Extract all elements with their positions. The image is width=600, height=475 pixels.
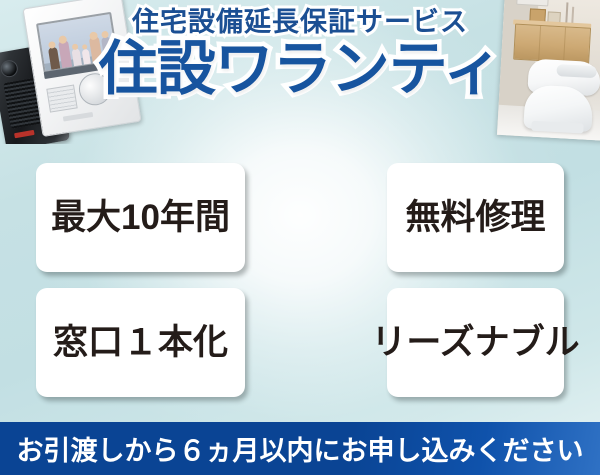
feature-label: リーズナブル — [371, 325, 579, 360]
feature-row-2: 窓口１本化 リーズナブル — [36, 288, 564, 397]
feature-box-grid: 最大10年間 無料修理 窓口１本化 リーズナブル — [36, 163, 564, 397]
promo-banner: 住宅設備延長保証サービス 住設ワランティ 最大10年間 無料修理 窓口１本化 リ… — [0, 0, 600, 475]
feature-row-1: 最大10年間 無料修理 — [36, 163, 564, 272]
headline-group: 住宅設備延長保証サービス 住設ワランティ — [0, 8, 600, 99]
call-button — [14, 130, 35, 138]
feature-label: 最大10年間 — [51, 200, 230, 235]
feature-label: 無料修理 — [405, 200, 545, 235]
feature-box-max-10-years[interactable]: 最大10年間 — [36, 163, 245, 272]
feature-label: 窓口１本化 — [53, 325, 228, 360]
service-subtitle: 住宅設備延長保証サービス — [0, 8, 600, 37]
service-title: 住設ワランティ — [0, 39, 600, 99]
feature-box-free-repair[interactable]: 無料修理 — [387, 163, 564, 272]
feature-box-reasonable[interactable]: リーズナブル — [387, 288, 564, 397]
feature-box-single-contact[interactable]: 窓口１本化 — [36, 288, 245, 397]
monitor-logo — [63, 112, 93, 122]
cta-text: お引渡しから６ヵ月以内にお申し込みください — [17, 429, 584, 468]
cta-banner[interactable]: お引渡しから６ヵ月以内にお申し込みください — [0, 422, 600, 475]
